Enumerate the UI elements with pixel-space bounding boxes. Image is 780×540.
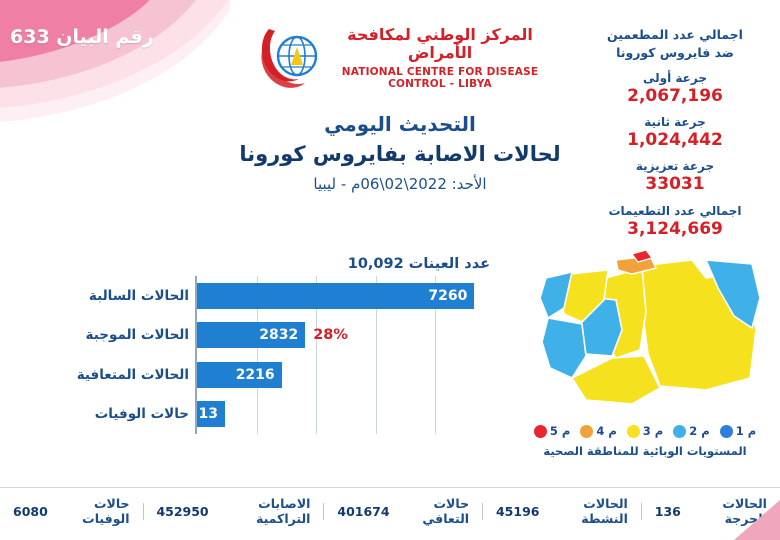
chart-annotation: 28% [313, 327, 348, 343]
chart-category-label: حالات الوفيات [95, 406, 189, 422]
vaccination-total-value: 3,124,669 [580, 219, 770, 239]
map-legend-item: م 1 [720, 424, 756, 438]
libya-epidemic-map [520, 238, 770, 438]
bottom-stat: الحالات النشطة45196 [483, 496, 641, 526]
logo-block: المركز الوطني لمكافحة الأمراض NATIONAL C… [255, 18, 545, 98]
logo-text: المركز الوطني لمكافحة الأمراض NATIONAL C… [335, 26, 545, 91]
legend-color-dot-icon [534, 425, 547, 438]
chart-category-label: الحالات الموجبة [86, 327, 189, 343]
chart-title: عدد العينات 10,092 [348, 256, 490, 272]
bottom-stat-separator [482, 503, 483, 520]
bottom-stat: حالات التعافي401674 [324, 496, 482, 526]
legend-color-dot-icon [720, 425, 733, 438]
vaccination-heading-line1: اجمالي عدد المطعمين [580, 26, 770, 44]
chart-bar-value: 2216 [236, 367, 275, 383]
chart-bar: 2216الحالات المتعافية [197, 362, 282, 388]
chart-bar: 13حالات الوفيات [197, 401, 225, 427]
chart-bar-row: 13حالات الوفيات [197, 401, 495, 427]
bottom-stat-value: 6080 [13, 504, 48, 519]
bottom-stat: الاصابات التراكمية452950 [143, 496, 323, 526]
chart-plot-area: 7260الحالات السالبة2832الحالات الموجبة28… [195, 276, 495, 434]
dose1-value: 2,067,196 [580, 86, 770, 106]
ncdc-globe-logo-icon [255, 23, 327, 93]
libya-map-svg [520, 238, 770, 438]
map-legend: م 1م 2م 3م 4م 5 المستويات الوبائية للمنا… [520, 424, 770, 458]
chart-category-label: الحالات السالبة [89, 288, 189, 304]
bottom-stats-bar: الحالات الحرجة136الحالات النشطة45196حالا… [0, 496, 780, 526]
bulletin-number: رقم البيان 633 [10, 26, 154, 48]
vaccination-row: جرعة تعزيزية 33031 [580, 159, 770, 194]
bottom-stat-separator [323, 503, 324, 520]
legend-item-label: م 4 [596, 424, 616, 438]
map-legend-caption: المستويات الوبائية للمناطقة الصحية [520, 444, 770, 458]
booster-label: جرعة تعزيزية [580, 159, 770, 173]
map-legend-items: م 1م 2م 3م 4م 5 [520, 424, 770, 438]
infographic-root: رقم البيان 633 المركز الوطني لمكافحة الأ… [0, 0, 780, 540]
chart-category-label: الحالات المتعافية [77, 367, 189, 383]
report-date: الأحد: 2022\02\06م - ليبيا [230, 175, 570, 193]
bottom-stat: حالات الوفيات6080 [0, 496, 143, 526]
bottom-stat-value: 45196 [496, 504, 540, 519]
booster-value: 33031 [580, 174, 770, 194]
bottom-stat-value: 136 [655, 504, 681, 519]
cases-bar-chart: عدد العينات 10,092 7260الحالات السالبة28… [30, 258, 510, 438]
chart-bar-value: 7260 [428, 288, 467, 304]
bottom-divider [0, 487, 780, 488]
vaccination-panel: اجمالي عدد المطعمين ضد فايروس كورونا جرع… [580, 26, 770, 239]
legend-color-dot-icon [673, 425, 686, 438]
map-legend-item: م 5 [534, 424, 570, 438]
legend-item-label: م 3 [643, 424, 663, 438]
legend-item-label: م 5 [550, 424, 570, 438]
legend-color-dot-icon [627, 425, 640, 438]
bottom-stat-label: حالات التعافي [396, 496, 470, 526]
legend-color-dot-icon [580, 425, 593, 438]
title-block: التحديث اليومي لحالات الاصابة بفايروس كو… [230, 112, 570, 193]
legend-item-label: م 1 [736, 424, 756, 438]
page-subtitle: لحالات الاصابة بفايروس كورونا [230, 142, 570, 166]
bottom-stat-label: الاصابات التراكمية [215, 496, 311, 526]
map-legend-item: م 3 [627, 424, 663, 438]
vaccination-total-label: اجمالي عدد التطعيمات [580, 204, 770, 218]
bottom-stat-value: 401674 [337, 504, 389, 519]
vaccination-heading-line2: ضد فايروس كورونا [580, 44, 770, 62]
map-legend-item: م 4 [580, 424, 616, 438]
bottom-stat-separator [641, 503, 642, 520]
swoosh-svg [0, 0, 230, 140]
vaccination-row: جرعة ثانية 1,024,442 [580, 115, 770, 150]
corner-decoration [734, 500, 780, 540]
dose2-value: 1,024,442 [580, 130, 770, 150]
map-legend-item: م 2 [673, 424, 709, 438]
logo-english-name: NATIONAL CENTRE FOR DISEASE CONTROL - LI… [335, 66, 545, 90]
vaccination-row: جرعة أولى 2,067,196 [580, 71, 770, 106]
bottom-stat-separator [143, 503, 144, 520]
chart-bar-row: 7260الحالات السالبة [197, 283, 495, 309]
dose2-label: جرعة ثانية [580, 115, 770, 129]
chart-bar-value: 13 [199, 406, 218, 422]
chart-bar-row: 2832الحالات الموجبة28% [197, 322, 495, 348]
dose1-label: جرعة أولى [580, 71, 770, 85]
chart-bar-row: 2216الحالات المتعافية [197, 362, 495, 388]
bottom-stat-value: 452950 [156, 504, 208, 519]
bottom-stat-label: الحالات النشطة [545, 496, 627, 526]
chart-bar-value: 2832 [259, 327, 298, 343]
decorative-swoosh [0, 0, 230, 140]
logo-arabic-name: المركز الوطني لمكافحة الأمراض [335, 26, 545, 63]
legend-item-label: م 2 [689, 424, 709, 438]
chart-bar: 2832الحالات الموجبة28% [197, 322, 305, 348]
chart-bar: 7260الحالات السالبة [197, 283, 474, 309]
page-title: التحديث اليومي [230, 112, 570, 136]
bottom-stat-label: حالات الوفيات [54, 496, 130, 526]
